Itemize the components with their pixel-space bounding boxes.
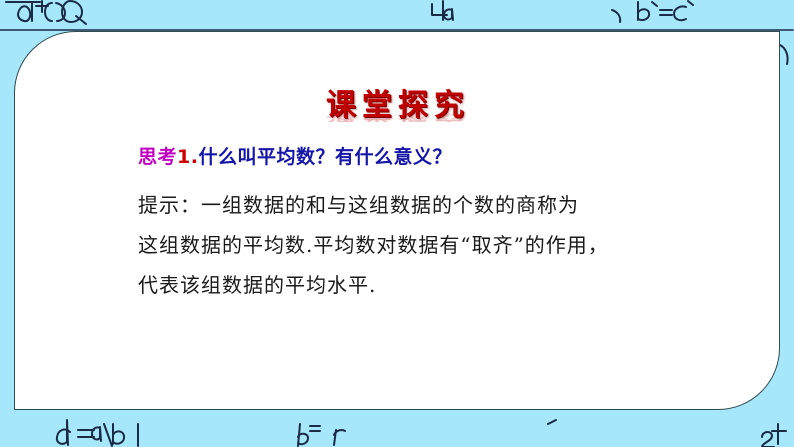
page-title-reflection: 课堂探究 — [15, 106, 781, 122]
question-line: 思考1.什么叫平均数？有什么意义？ — [138, 142, 758, 169]
answer-line: 这组数据的平均数.平均数对数据有“取齐”的作用， — [138, 235, 758, 255]
question-text: 什么叫平均数？有什么意义？ — [198, 146, 452, 168]
slide-root: 课堂探究 课堂探究 思考1.什么叫平均数？有什么意义？ 提示：一组数据的和与这组… — [0, 0, 794, 447]
content-panel: 课堂探究 课堂探究 思考1.什么叫平均数？有什么意义？ 提示：一组数据的和与这组… — [14, 31, 780, 410]
answer-line: 提示：一组数据的和与这组数据的个数的商称为 — [138, 195, 758, 215]
answer-line: 代表该组数据的平均水平. — [138, 275, 758, 295]
question-number: 1. — [177, 146, 198, 168]
body-content: 思考1.什么叫平均数？有什么意义？ 提示：一组数据的和与这组数据的个数的商称为 … — [138, 142, 758, 295]
question-prefix: 思考 — [138, 146, 177, 168]
